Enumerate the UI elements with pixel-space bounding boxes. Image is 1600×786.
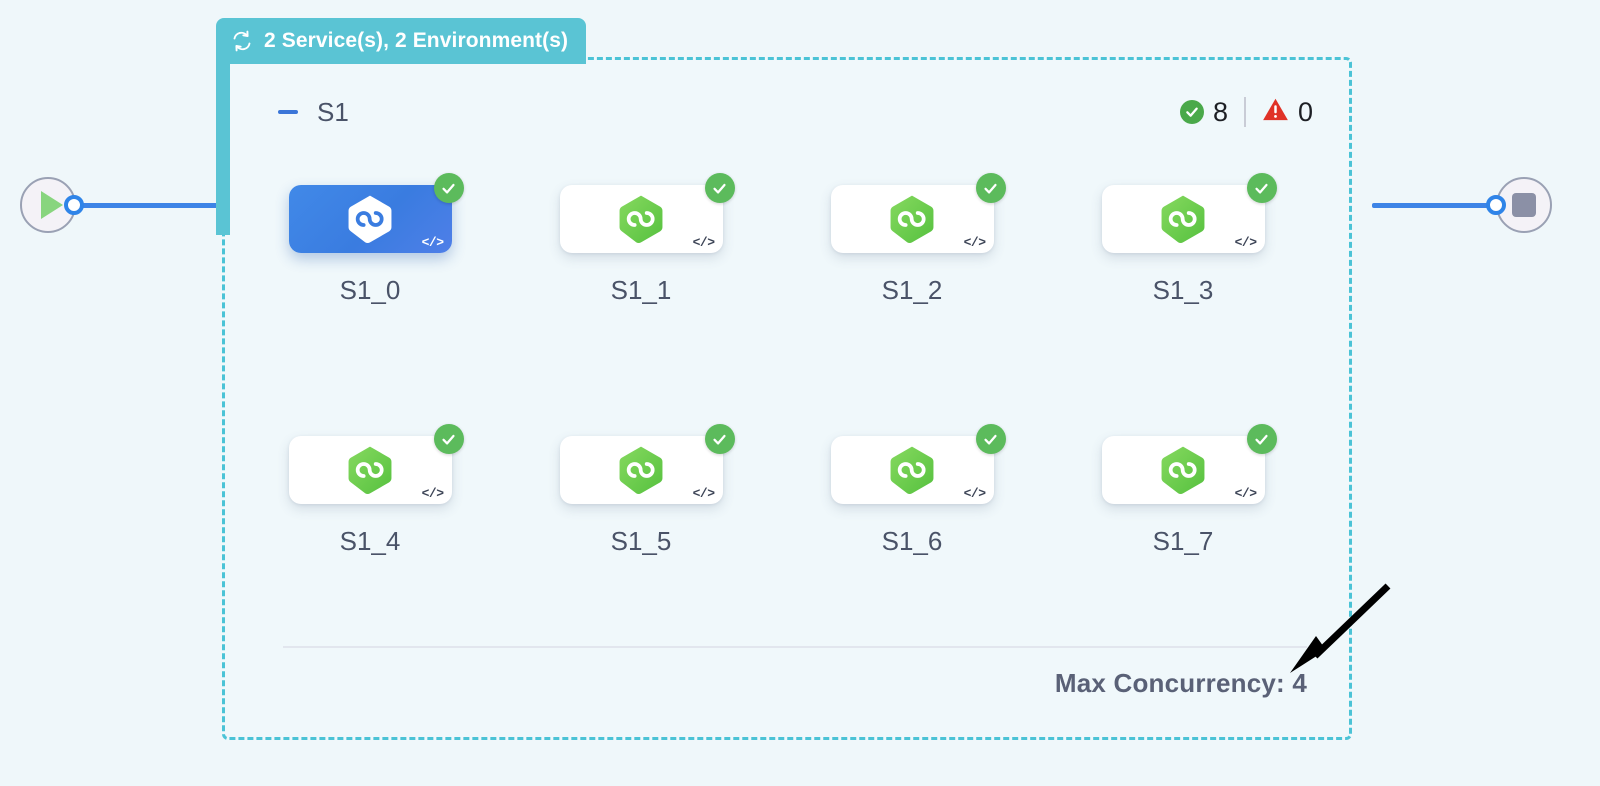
node-label: S1_3	[1083, 275, 1283, 306]
start-node-output-port[interactable]	[64, 195, 84, 215]
hexagon-logo-icon	[344, 193, 396, 245]
group-badge[interactable]: 2 Service(s), 2 Environment(s)	[216, 18, 586, 64]
node-item: </> S1_0	[270, 185, 470, 306]
node-item: </> S1_6	[812, 436, 1012, 557]
hexagon-logo-icon	[886, 193, 938, 245]
node-item: </> S1_2	[812, 185, 1012, 306]
service-node-card[interactable]: </>	[831, 185, 994, 253]
warning-count: 0	[1298, 97, 1313, 128]
check-circle-icon	[434, 424, 464, 454]
footer-divider	[283, 646, 1307, 648]
edge-group-to-end	[1372, 203, 1502, 208]
node-label: S1_2	[812, 275, 1012, 306]
end-node-input-port[interactable]	[1486, 195, 1506, 215]
node-label: S1_5	[541, 526, 741, 557]
code-badge: </>	[693, 235, 715, 250]
max-concurrency-label: Max Concurrency: 4	[1055, 668, 1307, 699]
check-circle-icon	[976, 173, 1006, 203]
check-circle-icon	[1247, 173, 1277, 203]
service-node-card[interactable]: </>	[831, 436, 994, 504]
node-item: </> S1_3	[1083, 185, 1283, 306]
service-node-card[interactable]: </>	[1102, 185, 1265, 253]
workflow-canvas: 2 Service(s), 2 Environment(s) S1 8	[0, 0, 1600, 786]
warning-triangle-icon	[1262, 97, 1289, 127]
status-summary: 8 0	[1180, 97, 1313, 128]
code-badge: </>	[964, 486, 986, 501]
group-header: S1 8	[275, 95, 1313, 129]
node-label: S1_1	[541, 275, 741, 306]
stop-icon	[1512, 193, 1536, 217]
node-label: S1_7	[1083, 526, 1283, 557]
edge-start-to-group	[70, 203, 230, 208]
status-badge-warning: 0	[1262, 97, 1313, 128]
node-label: S1_4	[270, 526, 470, 557]
check-circle-icon	[705, 424, 735, 454]
service-group-container[interactable]: S1 8	[222, 57, 1352, 740]
code-badge: </>	[422, 486, 444, 501]
minus-icon	[278, 110, 298, 114]
service-node-card[interactable]: </>	[1102, 436, 1265, 504]
collapse-toggle-button[interactable]	[275, 99, 301, 125]
status-badge-success: 8	[1180, 97, 1228, 128]
code-badge: </>	[693, 486, 715, 501]
group-badge-tail	[216, 60, 230, 235]
hexagon-logo-icon	[886, 444, 938, 496]
code-badge: </>	[1235, 486, 1257, 501]
service-node-card[interactable]: </>	[289, 436, 452, 504]
group-badge-label: 2 Service(s), 2 Environment(s)	[264, 29, 568, 53]
node-label: S1_0	[270, 275, 470, 306]
status-divider	[1244, 97, 1246, 127]
check-circle-icon	[1180, 100, 1204, 124]
service-node-card[interactable]: </>	[560, 436, 723, 504]
check-circle-icon	[1247, 424, 1277, 454]
code-badge: </>	[422, 235, 444, 250]
code-badge: </>	[1235, 235, 1257, 250]
group-title: S1	[317, 97, 349, 128]
hexagon-logo-icon	[1157, 444, 1209, 496]
hexagon-logo-icon	[615, 444, 667, 496]
node-label: S1_6	[812, 526, 1012, 557]
check-circle-icon	[976, 424, 1006, 454]
hexagon-logo-icon	[615, 193, 667, 245]
play-icon	[41, 191, 63, 219]
node-item: </> S1_5	[541, 436, 741, 557]
service-node-card[interactable]: </>	[560, 185, 723, 253]
cycle-icon	[230, 29, 254, 53]
node-item: </> S1_7	[1083, 436, 1283, 557]
check-circle-icon	[434, 173, 464, 203]
service-node-card[interactable]: </>	[289, 185, 452, 253]
node-item: </> S1_4	[270, 436, 470, 557]
hexagon-logo-icon	[1157, 193, 1209, 245]
node-item: </> S1_1	[541, 185, 741, 306]
check-circle-icon	[705, 173, 735, 203]
code-badge: </>	[964, 235, 986, 250]
hexagon-logo-icon	[344, 444, 396, 496]
success-count: 8	[1213, 97, 1228, 128]
